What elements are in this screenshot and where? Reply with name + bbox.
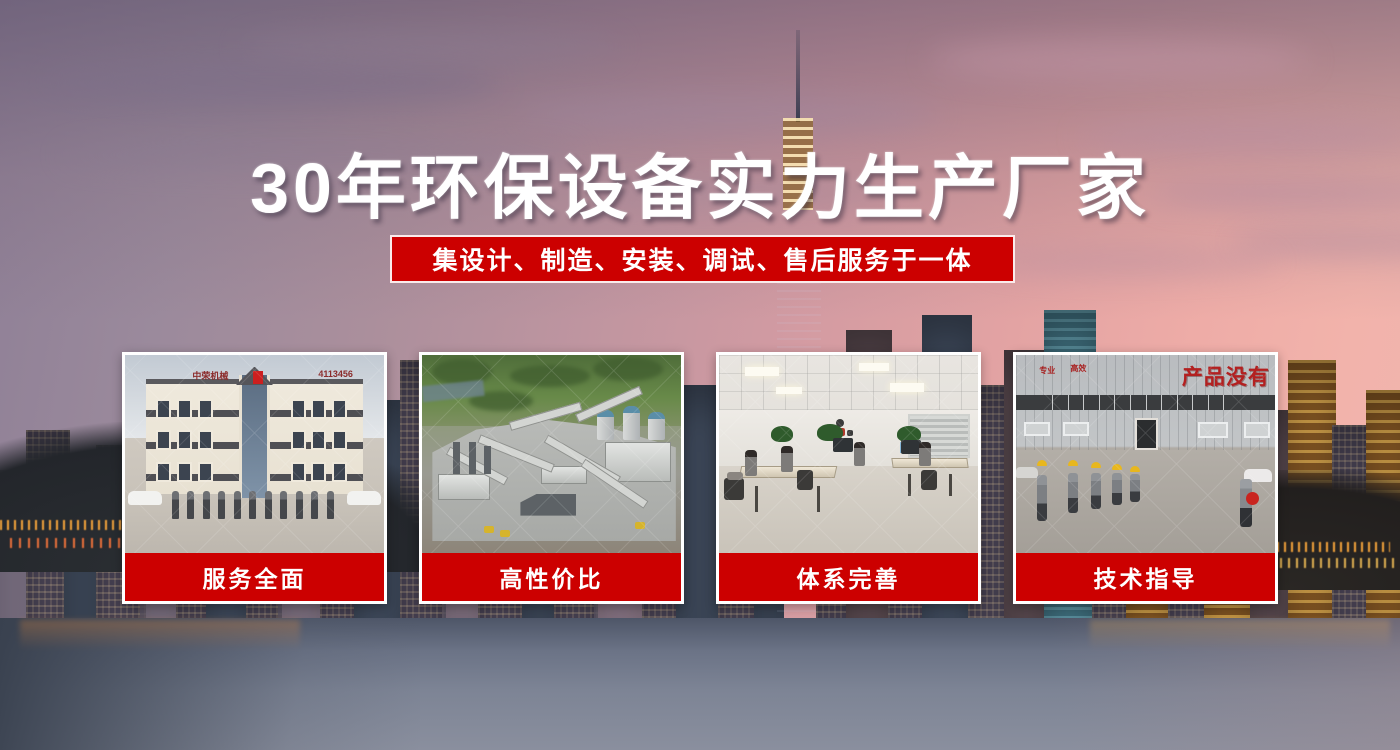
cloud — [40, 60, 500, 106]
building-phone-text: 4113456 — [318, 369, 353, 379]
card-caption: 体系完善 — [719, 553, 978, 601]
card-caption-text: 技术指导 — [1094, 560, 1198, 594]
card-caption-text: 体系完善 — [797, 560, 901, 594]
building-sign-text: 中荣机械 — [192, 369, 228, 382]
cloud — [930, 40, 1310, 80]
cloud — [240, 30, 620, 64]
factory-wall-slogan: 产品没有 — [1182, 361, 1270, 391]
feature-card-row: 中荣机械 4113456 服务全面 — [122, 352, 1278, 604]
feature-card-service[interactable]: 中荣机械 4113456 服务全面 — [122, 352, 387, 604]
card-caption: 服务全面 — [125, 553, 384, 601]
card-caption-text: 高性价比 — [500, 560, 604, 594]
card-caption: 技术指导 — [1016, 553, 1275, 601]
flag-icon — [253, 371, 263, 384]
page-title: 30年环保设备实力生产厂家 — [0, 132, 1400, 233]
card-caption: 高性价比 — [422, 553, 681, 601]
factory-wall-slogan-small: 专业 — [1039, 365, 1055, 376]
water-reflection — [20, 620, 300, 650]
tower-spire — [796, 30, 800, 122]
cloud — [520, 95, 940, 133]
feature-card-value[interactable]: 高性价比 — [419, 352, 684, 604]
subtitle-text: 集设计、制造、安装、调试、售后服务于一体 — [432, 241, 972, 277]
company-headquarters-photo: 中荣机械 4113456 — [125, 355, 384, 553]
industrial-plant-aerial-photo — [422, 355, 681, 553]
office-interior-photo — [719, 355, 978, 553]
factory-wall-slogan-small: 高效 — [1070, 363, 1086, 374]
subtitle-banner: 集设计、制造、安装、调试、售后服务于一体 — [390, 235, 1015, 283]
water-reflection — [1090, 620, 1390, 650]
card-caption-text: 服务全面 — [203, 560, 307, 594]
factory-workers-photo: 产品没有 专业 高效 — [1016, 355, 1275, 553]
feature-card-system[interactable]: 体系完善 — [716, 352, 981, 604]
feature-card-technical-guidance[interactable]: 产品没有 专业 高效 — [1013, 352, 1278, 604]
promotional-banner: 30年环保设备实力生产厂家 集设计、制造、安装、调试、售后服务于一体 — [0, 0, 1400, 750]
